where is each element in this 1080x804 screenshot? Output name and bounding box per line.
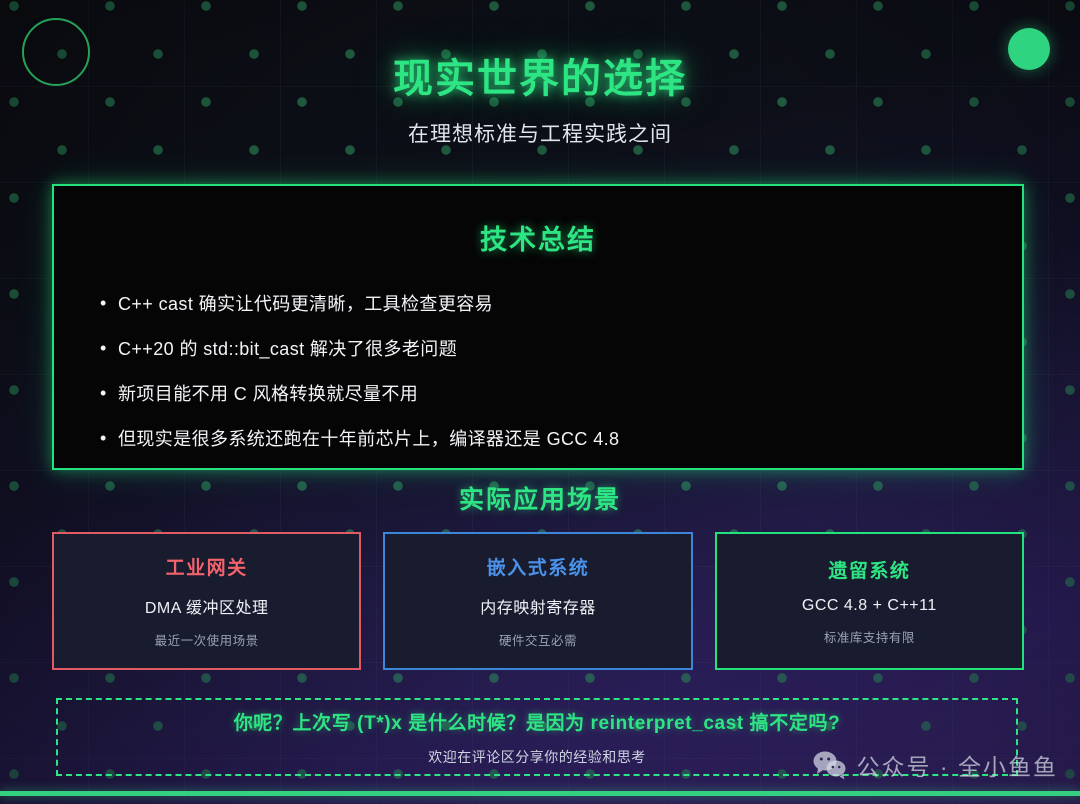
- header: 现实世界的选择 在理想标准与工程实践之间: [0, 0, 1080, 148]
- summary-title: 技术总结: [54, 186, 1022, 257]
- card-note-text: 硬件交互必需: [499, 630, 577, 649]
- cta-note: 欢迎在评论区分享你的经验和思考: [428, 747, 646, 767]
- scenarios-heading: 实际应用场景: [0, 480, 1080, 516]
- scenario-card-embedded-system: 嵌入式系统 内存映射寄存器 硬件交互必需: [383, 532, 692, 670]
- wechat-icon: [813, 750, 847, 780]
- list-item: 但现实是很多系统还跑在十年前芯片上，编译器还是 GCC 4.8: [100, 426, 1022, 454]
- list-item: C++20 的 std::bit_cast 解决了很多老问题: [100, 336, 1022, 364]
- watermark: 公众号 · 全小鱼鱼: [813, 748, 1058, 782]
- technical-summary-panel: 技术总结 C++ cast 确实让代码更清晰，工具检查更容易 C++20 的 s…: [52, 184, 1024, 470]
- page-title: 现实世界的选择: [0, 46, 1080, 104]
- card-main-text: GCC 4.8 + C++11: [802, 597, 937, 615]
- card-note-text: 标准库支持有限: [824, 627, 915, 646]
- card-main-text: DMA 缓冲区处理: [145, 594, 269, 618]
- scenario-card-legacy-system: 遗留系统 GCC 4.8 + C++11 标准库支持有限: [715, 532, 1024, 670]
- card-title: 嵌入式系统: [487, 553, 590, 580]
- card-main-text: 内存映射寄存器: [480, 594, 596, 618]
- scenario-card-industrial-gateway: 工业网关 DMA 缓冲区处理 最近一次使用场景: [52, 532, 361, 670]
- list-item: 新项目能不用 C 风格转换就尽量不用: [100, 381, 1022, 409]
- summary-bullet-list: C++ cast 确实让代码更清晰，工具检查更容易 C++20 的 std::b…: [54, 291, 1022, 454]
- card-note-text: 最近一次使用场景: [155, 630, 259, 649]
- card-title: 工业网关: [166, 553, 248, 580]
- slide-root: 现实世界的选择 在理想标准与工程实践之间 技术总结 C++ cast 确实让代码…: [0, 0, 1080, 804]
- bottom-accent-rule: [0, 791, 1080, 796]
- cta-question: 你呢？上次写 (T*)x 是什么时候？是因为 reinterpret_cast …: [234, 708, 841, 735]
- list-item: C++ cast 确实让代码更清晰，工具检查更容易: [100, 291, 1022, 319]
- scenario-cards: 工业网关 DMA 缓冲区处理 最近一次使用场景 嵌入式系统 内存映射寄存器 硬件…: [52, 532, 1024, 670]
- card-title: 遗留系统: [828, 556, 910, 583]
- watermark-text: 公众号 · 全小鱼鱼: [857, 748, 1058, 782]
- page-subtitle: 在理想标准与工程实践之间: [0, 118, 1080, 148]
